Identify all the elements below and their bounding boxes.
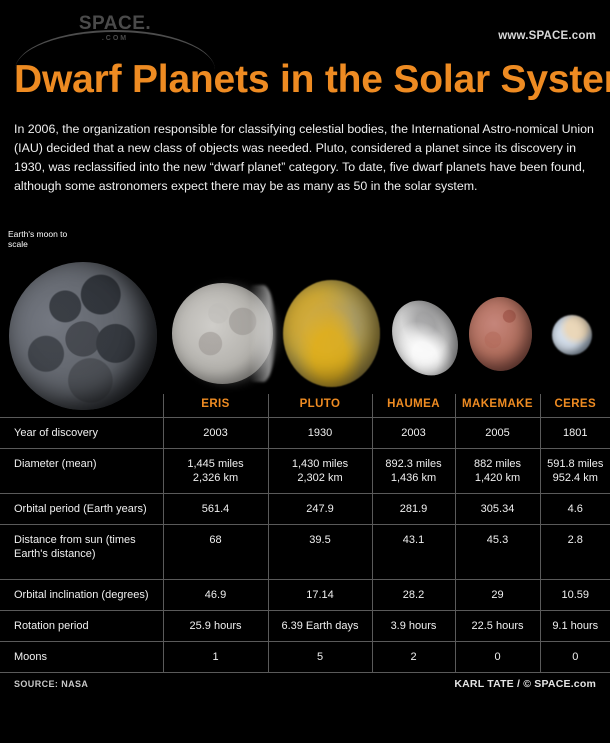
comparison-table-wrapper: ERIS PLUTO HAUMEA MAKEMAKE CERES Year of… <box>0 394 610 673</box>
pluto-image <box>283 280 380 387</box>
page-header: SPACE. .COM www.SPACE.com <box>0 0 610 58</box>
cell-line: 10.59 <box>543 588 609 602</box>
intro-paragraph: In 2006, the organization responsible fo… <box>14 120 598 196</box>
author-credit: KARL TATE / © SPACE.com <box>454 678 596 690</box>
cell-line: 6.39 Earth days <box>271 619 370 633</box>
cell-line: 2.8 <box>543 533 609 547</box>
celestial-body-row <box>0 255 610 400</box>
cell-line: 1 <box>166 650 266 664</box>
cell-line: 22.5 hours <box>458 619 538 633</box>
row-label-line: Earth's distance) <box>14 547 161 561</box>
table-row: Orbital inclination (degrees)46.917.1428… <box>0 580 610 611</box>
eris-limb-highlight <box>250 285 276 382</box>
table-cell-haumea: 281.9 <box>372 494 455 525</box>
cell-line: 28.2 <box>375 588 453 602</box>
table-cell-ceres: 0 <box>540 642 610 673</box>
table-cell-haumea: 892.3 miles1,436 km <box>372 449 455 494</box>
cell-line: 2003 <box>166 426 266 440</box>
ceres-image <box>552 315 592 355</box>
row-label: Rotation period <box>0 611 163 642</box>
cell-line: 68 <box>166 533 266 547</box>
table-cell-makemake: 0 <box>455 642 540 673</box>
row-label: Year of discovery <box>0 418 163 449</box>
table-cell-eris: 2003 <box>163 418 268 449</box>
page-footer: SOURCE: NASA KARL TATE / © SPACE.com <box>0 679 610 699</box>
cell-line: 9.1 hours <box>543 619 609 633</box>
cell-line: 43.1 <box>375 533 453 547</box>
cell-line: 2003 <box>375 426 453 440</box>
haumea-image <box>379 289 470 387</box>
table-cell-ceres: 9.1 hours <box>540 611 610 642</box>
table-cell-eris: 25.9 hours <box>163 611 268 642</box>
table-cell-ceres: 1801 <box>540 418 610 449</box>
table-cell-eris: 561.4 <box>163 494 268 525</box>
cell-line: 247.9 <box>271 502 370 516</box>
row-label: Diameter (mean) <box>0 449 163 494</box>
site-url-label: www.SPACE.com <box>498 30 596 42</box>
column-header-eris: ERIS <box>163 394 268 418</box>
cell-line: 2,326 km <box>166 471 266 485</box>
table-row: Distance from sun (timesEarth's distance… <box>0 525 610 580</box>
table-corner-cell <box>0 394 163 418</box>
dwarf-planet-comparison-table: ERIS PLUTO HAUMEA MAKEMAKE CERES Year of… <box>0 394 610 673</box>
cell-line: 305.34 <box>458 502 538 516</box>
moon-image <box>9 262 157 410</box>
cell-line: 1,430 miles <box>271 457 370 471</box>
table-cell-eris: 68 <box>163 525 268 580</box>
cell-line: 2 <box>375 650 453 664</box>
cell-line: 2,302 km <box>271 471 370 485</box>
row-label: Orbital inclination (degrees) <box>0 580 163 611</box>
space-com-logo[interactable]: SPACE. .COM <box>55 14 175 48</box>
cell-line: 561.4 <box>166 502 266 516</box>
cell-line: 29 <box>458 588 538 602</box>
cell-line: 1,436 km <box>375 471 453 485</box>
table-cell-pluto: 39.5 <box>268 525 372 580</box>
table-header-row: ERIS PLUTO HAUMEA MAKEMAKE CERES <box>0 394 610 418</box>
table-cell-pluto: 5 <box>268 642 372 673</box>
cell-line: 1801 <box>543 426 609 440</box>
table-row: Orbital period (Earth years)561.4247.928… <box>0 494 610 525</box>
cell-line: 39.5 <box>271 533 370 547</box>
table-cell-makemake: 45.3 <box>455 525 540 580</box>
table-cell-ceres: 10.59 <box>540 580 610 611</box>
cell-line: 4.6 <box>543 502 609 516</box>
table-cell-haumea: 3.9 hours <box>372 611 455 642</box>
table-cell-pluto: 6.39 Earth days <box>268 611 372 642</box>
table-cell-ceres: 591.8 miles952.4 km <box>540 449 610 494</box>
table-cell-pluto: 17.14 <box>268 580 372 611</box>
cell-line: 3.9 hours <box>375 619 453 633</box>
cell-line: 5 <box>271 650 370 664</box>
table-cell-makemake: 305.34 <box>455 494 540 525</box>
table-cell-haumea: 2003 <box>372 418 455 449</box>
cell-line: 1,420 km <box>458 471 538 485</box>
makemake-image <box>469 297 532 371</box>
table-row: Year of discovery20031930200320051801 <box>0 418 610 449</box>
table-cell-eris: 1 <box>163 642 268 673</box>
cell-line: 952.4 km <box>543 471 609 485</box>
table-cell-makemake: 29 <box>455 580 540 611</box>
table-cell-pluto: 1930 <box>268 418 372 449</box>
cell-line: 46.9 <box>166 588 266 602</box>
table-cell-haumea: 2 <box>372 642 455 673</box>
table-cell-haumea: 43.1 <box>372 525 455 580</box>
table-row: Moons15200 <box>0 642 610 673</box>
cell-line: 882 miles <box>458 457 538 471</box>
column-header-ceres: CERES <box>540 394 610 418</box>
table-cell-makemake: 2005 <box>455 418 540 449</box>
cell-line: 281.9 <box>375 502 453 516</box>
column-header-pluto: PLUTO <box>268 394 372 418</box>
cell-line: 2005 <box>458 426 538 440</box>
row-label-line: Distance from sun (times <box>14 533 161 547</box>
table-cell-makemake: 882 miles1,420 km <box>455 449 540 494</box>
cell-line: 892.3 miles <box>375 457 453 471</box>
table-row: Diameter (mean)1,445 miles2,326 km1,430 … <box>0 449 610 494</box>
table-cell-pluto: 247.9 <box>268 494 372 525</box>
row-label: Orbital period (Earth years) <box>0 494 163 525</box>
cell-line: 0 <box>543 650 609 664</box>
column-header-makemake: MAKEMAKE <box>455 394 540 418</box>
table-cell-ceres: 4.6 <box>540 494 610 525</box>
table-cell-makemake: 22.5 hours <box>455 611 540 642</box>
cell-line: 0 <box>458 650 538 664</box>
cell-line: 1930 <box>271 426 370 440</box>
cell-line: 1,445 miles <box>166 457 266 471</box>
cell-line: 17.14 <box>271 588 370 602</box>
table-cell-ceres: 2.8 <box>540 525 610 580</box>
table-body: Year of discovery20031930200320051801Dia… <box>0 418 610 673</box>
column-header-haumea: HAUMEA <box>372 394 455 418</box>
source-credit: SOURCE: NASA <box>14 679 88 689</box>
table-row: Rotation period25.9 hours6.39 Earth days… <box>0 611 610 642</box>
table-cell-haumea: 28.2 <box>372 580 455 611</box>
row-label: Moons <box>0 642 163 673</box>
table-cell-pluto: 1,430 miles2,302 km <box>268 449 372 494</box>
table-cell-eris: 1,445 miles2,326 km <box>163 449 268 494</box>
cell-line: 25.9 hours <box>166 619 266 633</box>
scale-reference-label: Earth's moon to scale <box>8 229 78 249</box>
table-head: ERIS PLUTO HAUMEA MAKEMAKE CERES <box>0 394 610 418</box>
page-title: Dwarf Planets in the Solar System <box>14 58 604 102</box>
row-label: Distance from sun (timesEarth's distance… <box>0 525 163 580</box>
cell-line: 591.8 miles <box>543 457 609 471</box>
table-cell-eris: 46.9 <box>163 580 268 611</box>
cell-line: 45.3 <box>458 533 538 547</box>
